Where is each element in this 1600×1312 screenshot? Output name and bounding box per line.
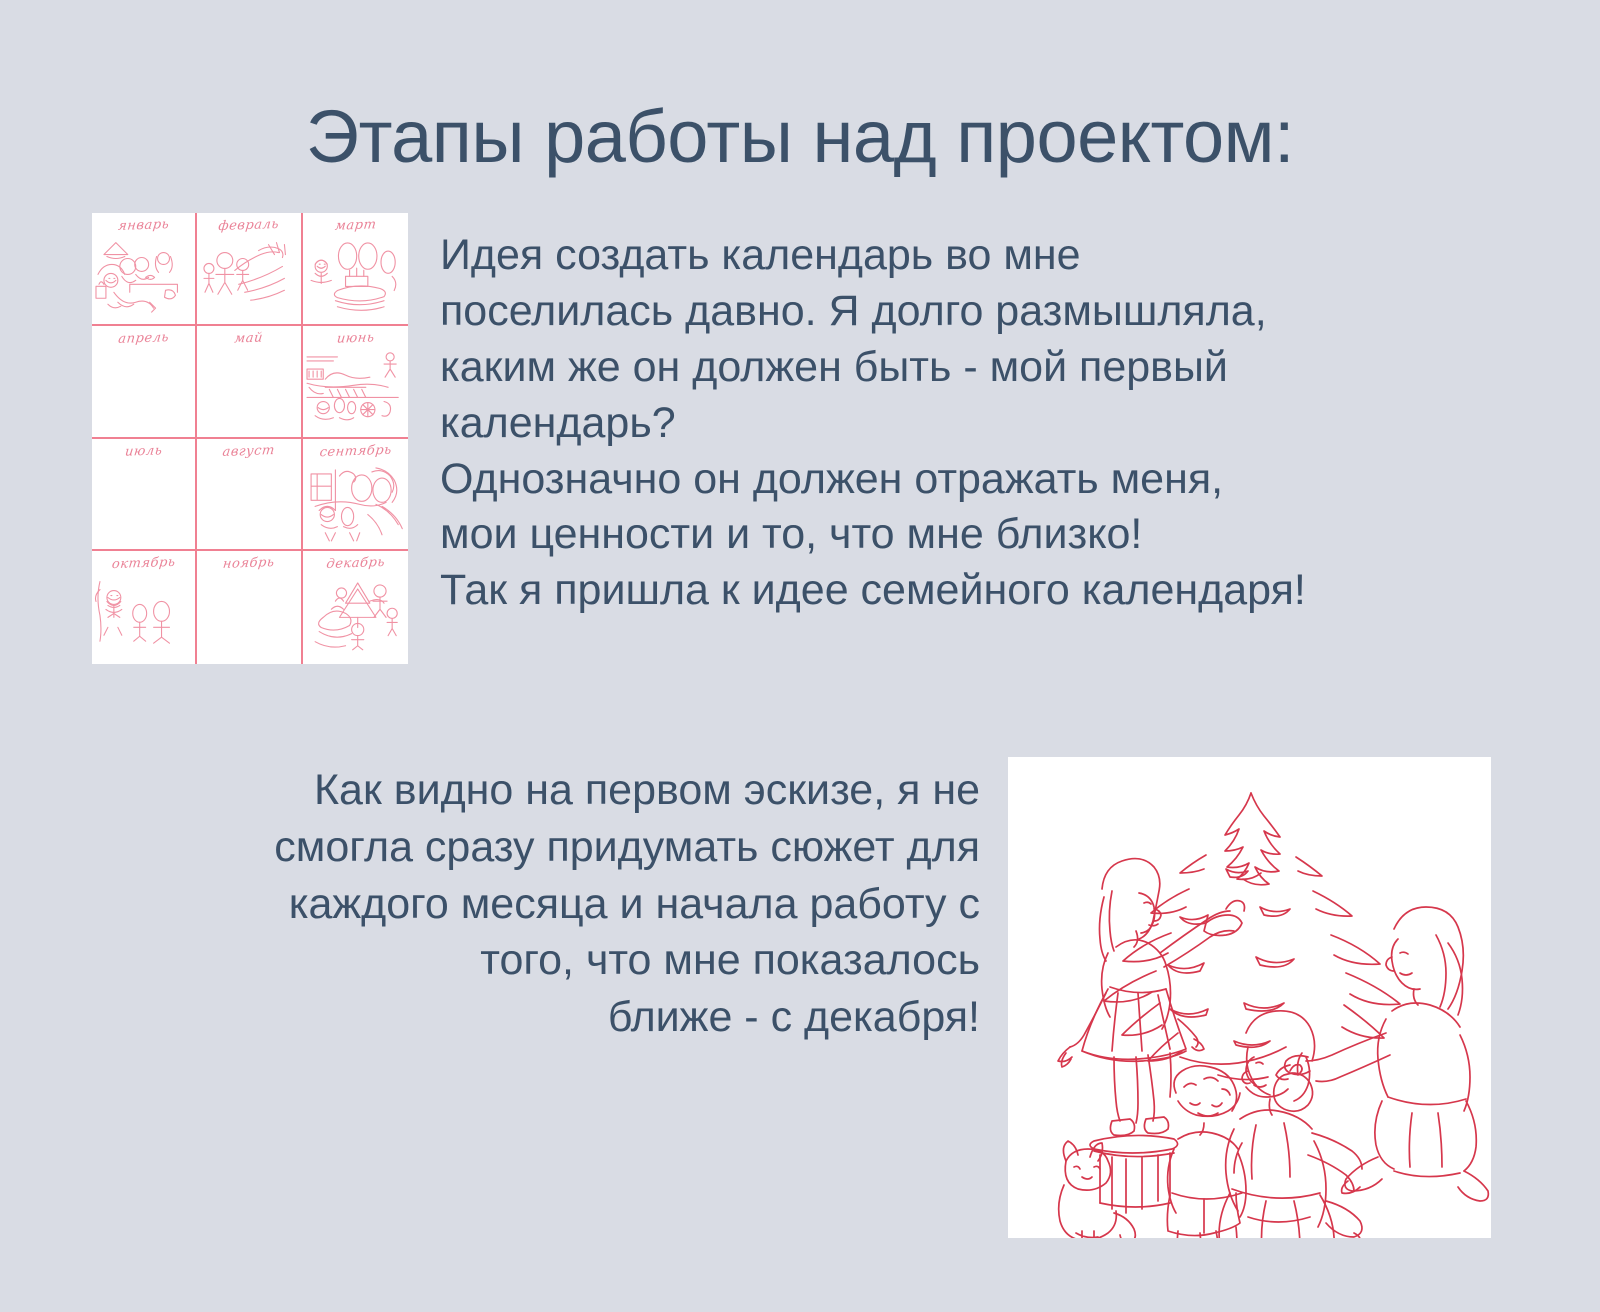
paragraph-line: Однозначно он должен отражать меня, <box>440 452 1518 508</box>
calendar-cell-november: ноябрь <box>197 551 302 664</box>
paragraph-line: каким же он должен быть - мой первый <box>440 340 1518 396</box>
calendar-month-label: октябрь <box>92 554 196 573</box>
paragraph-line: Идея создать календарь во мне <box>440 228 1518 284</box>
calendar-month-label: январь <box>92 216 196 235</box>
page-title: Этапы работы над проектом: <box>0 98 1600 176</box>
calendar-cell-may: май <box>197 326 302 439</box>
calendar-month-label: июнь <box>303 329 408 348</box>
boy-kneeling-figure <box>1219 1011 1362 1238</box>
christmas-tree-icon <box>1104 793 1400 1080</box>
calendar-month-label: апрель <box>92 329 196 348</box>
calendar-month-label: июль <box>92 442 196 461</box>
calendar-cell-march: март <box>303 213 408 326</box>
sketch-school-scene-icon <box>305 461 406 548</box>
paragraph-line: поселилась давно. Я долго размышляла, <box>440 284 1518 340</box>
sketch-summer-scene-icon <box>305 348 406 435</box>
calendar-month-label: февраль <box>197 216 301 235</box>
calendar-month-label: декабрь <box>303 554 408 573</box>
paragraph-line: Как видно на первом эскизе, я не <box>88 762 980 819</box>
paragraph-line: смогла сразу придумать сюжет для <box>88 819 980 876</box>
small-boy-figure <box>1167 1066 1246 1238</box>
paragraph-line: каждого месяца и начала работу с <box>88 876 980 933</box>
calendar-cell-february: февраль <box>197 213 302 326</box>
calendar-cell-june: июнь <box>303 326 408 439</box>
family-decorating-tree-illustration <box>1008 757 1491 1238</box>
calendar-cell-january: январь <box>92 213 197 326</box>
paragraph-line: мои ценности и то, что мне близко! <box>440 507 1518 563</box>
calendar-cell-september: сентябрь <box>303 439 408 552</box>
calendar-sketch-image: январь <box>92 213 408 664</box>
sketch-family-decorating-tree-icon <box>305 573 406 662</box>
calendar-grid: январь <box>92 213 408 664</box>
calendar-month-label: март <box>303 216 408 235</box>
calendar-cell-october: октябрь <box>92 551 197 664</box>
calendar-month-label: сентябрь <box>303 442 408 461</box>
sketch-people-with-tree-icon <box>94 573 193 662</box>
calendar-month-label: май <box>197 329 301 348</box>
paragraph-line: того, что мне показалось <box>88 932 980 989</box>
paragraph-line: ближе - с декабря! <box>88 989 980 1046</box>
calendar-cell-august: август <box>197 439 302 552</box>
girl-on-stool-figure <box>1058 859 1245 1136</box>
sketch-girl-with-cake-icon <box>305 235 406 322</box>
calendar-cell-july: июль <box>92 439 197 552</box>
calendar-month-label: август <box>197 442 301 461</box>
sketch-kids-sledding-icon <box>199 235 298 322</box>
christmas-tree-sketch-image <box>1008 757 1491 1238</box>
mother-figure <box>1274 907 1489 1201</box>
calendar-month-label: ноябрь <box>197 554 301 573</box>
calendar-cell-december: декабрь <box>303 551 408 664</box>
paragraph-about-first-sketch: Как видно на первом эскизе, я не смогла … <box>88 762 980 1046</box>
calendar-cell-april: апрель <box>92 326 197 439</box>
sketch-family-at-table-icon <box>94 235 193 322</box>
paragraph-line: Так я пришла к идее семейного календаря! <box>440 563 1518 619</box>
paragraph-line: календарь? <box>440 396 1518 452</box>
paragraph-about-idea: Идея создать календарь во мне поселилась… <box>440 228 1518 619</box>
